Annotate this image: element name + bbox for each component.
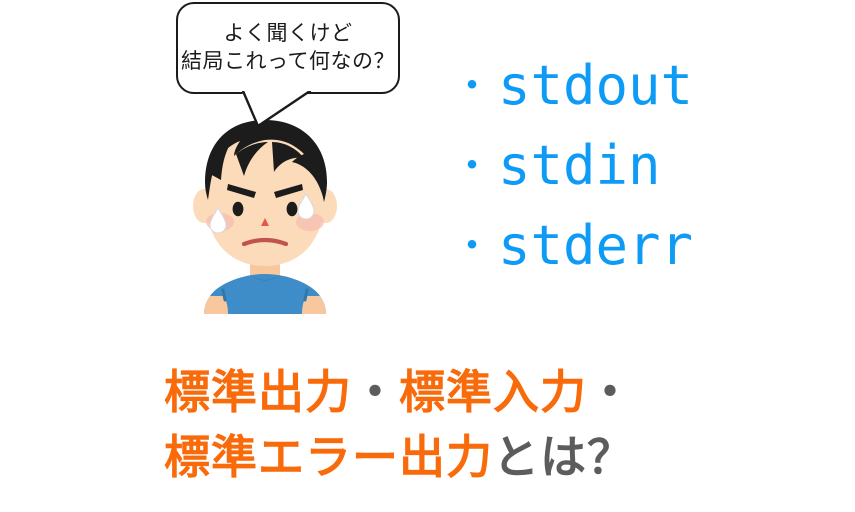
speech-bubble: よく聞くけど 結局これって何なの？ [176,2,400,94]
stream-list: ・ stdout ・ stdin ・ stderr [452,46,752,286]
speech-bubble-line-2: 結局これって何なの？ [181,48,395,76]
page-title: 標準出力・標準入力・ 標準エラー出力とは？ [164,360,724,491]
bullet-dot-icon: ・ [452,146,498,186]
headline-line-1: 標準出力・標準入力・ [164,360,724,425]
headline-question-suffix: とは？ [493,431,634,483]
headline-line-2: 標準エラー出力とは？ [164,425,724,490]
stream-label-stdin: stdin [498,139,661,193]
list-item: ・ stderr [452,206,752,286]
bullet-dot-icon: ・ [452,226,498,266]
headline-stdout-term: 標準出力 [164,366,352,418]
eye-right [287,202,298,216]
headline-separator-2: ・ [587,366,634,418]
list-item: ・ stdout [452,46,752,126]
bullet-dot-icon: ・ [452,66,498,106]
stream-label-stdout: stdout [498,59,693,113]
confused-man-illustration [180,114,350,314]
headline-separator-1: ・ [352,366,399,418]
headline-stderr-term: 標準エラー出力 [164,431,493,483]
stream-label-stderr: stderr [498,219,693,273]
list-item: ・ stdin [452,126,752,206]
speech-bubble-line-1: よく聞くけど [224,20,353,48]
speech-bubble-text: よく聞くけど 結局これって何なの？ [178,4,398,92]
eye-left [233,202,244,216]
headline-stdin-term: 標準入力 [399,366,587,418]
speech-bubble-tail-icon [240,86,312,130]
